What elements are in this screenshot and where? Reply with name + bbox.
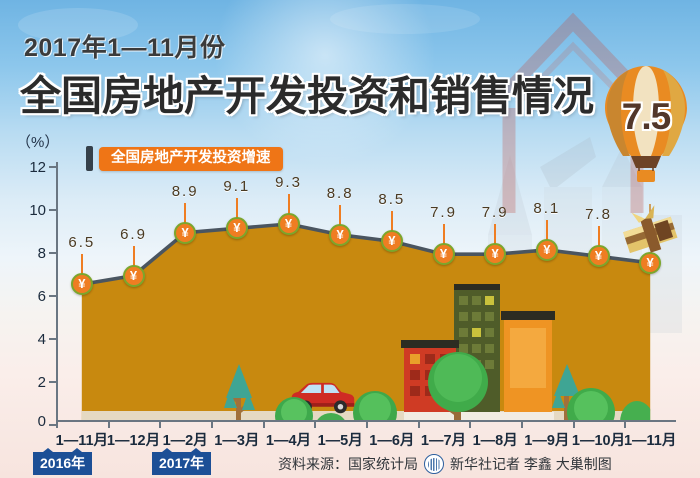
y-tick-label: 10 xyxy=(16,202,46,219)
x-tick-mark xyxy=(108,422,110,428)
x-tick-label: 1—11月 xyxy=(617,429,683,450)
cloud-shape xyxy=(330,4,480,34)
xinhua-logo-icon xyxy=(424,454,444,474)
data-point-label: 8.9 xyxy=(162,183,208,200)
y-tick-label: 0 xyxy=(16,413,46,430)
gift-parcel-icon xyxy=(617,204,683,260)
subtitle: 2017年1—11月份 xyxy=(24,28,225,64)
y-tick-mark xyxy=(49,209,56,211)
y-tick-mark xyxy=(49,295,56,297)
data-point-label: 7.9 xyxy=(472,204,518,221)
y-tick-mark xyxy=(49,252,56,254)
x-tick-mark xyxy=(56,422,58,428)
city-building-icon xyxy=(501,311,555,420)
y-axis-ticks: 12 10 8 6 4 2 0 xyxy=(12,0,46,478)
year-badge-2016: 2016年 xyxy=(33,452,92,475)
yuan-currency-icon[interactable]: ¥ xyxy=(329,224,351,246)
y-tick-label: 2 xyxy=(16,374,46,391)
y-tick-label: 6 xyxy=(16,288,46,305)
y-tick-label: 12 xyxy=(16,159,46,176)
data-point-label: 7.9 xyxy=(421,204,467,221)
yuan-currency-icon[interactable]: ¥ xyxy=(588,245,610,267)
footer: 资料来源：国家统计局 新华社记者 李鑫 大巢制图 xyxy=(278,454,612,474)
x-axis-labels: 1—11月1—12月1—2月1—3月1—4月1—5月1—6月1—7月1—8月1—… xyxy=(0,429,700,449)
x-tick-mark xyxy=(263,422,265,428)
data-point-label: 6.5 xyxy=(59,234,105,251)
data-point-label: 7.8 xyxy=(576,206,622,223)
legend-label: 全国房地产开发投资增速 xyxy=(99,147,283,171)
yuan-currency-icon[interactable]: ¥ xyxy=(174,222,196,244)
data-point-label: 8.5 xyxy=(369,191,415,208)
data-point-label: 9.3 xyxy=(266,174,312,191)
x-tick-mark xyxy=(314,422,316,428)
legend: 全国房地产开发投资增速 xyxy=(86,146,283,171)
y-tick-label: 8 xyxy=(16,245,46,262)
page-title: 全国房地产开发投资和销售情况 xyxy=(20,62,594,122)
credit-label: 新华社记者 李鑫 大巢制图 xyxy=(450,454,612,474)
data-point-label: 8.1 xyxy=(524,200,570,217)
y-tick-mark xyxy=(49,166,56,168)
x-tick-mark xyxy=(624,422,626,428)
y-tick-mark xyxy=(49,381,56,383)
x-tick-mark xyxy=(573,422,575,428)
highlight-value: 7.5 xyxy=(601,96,691,138)
yuan-currency-icon[interactable]: ¥ xyxy=(433,243,455,265)
yuan-currency-icon[interactable]: ¥ xyxy=(536,239,558,261)
y-tick-label: 4 xyxy=(16,331,46,348)
data-point-label: 6.9 xyxy=(111,226,157,243)
x-tick-mark xyxy=(418,422,420,428)
yuan-currency-icon[interactable]: ¥ xyxy=(226,217,248,239)
year-badge-2017: 2017年 xyxy=(152,452,211,475)
x-tick-mark xyxy=(366,422,368,428)
x-tick-mark xyxy=(469,422,471,428)
y-tick-mark xyxy=(49,424,56,426)
x-tick-mark xyxy=(521,422,523,428)
y-axis-line xyxy=(56,162,58,422)
yuan-currency-icon[interactable]: ¥ xyxy=(381,230,403,252)
yuan-currency-icon[interactable]: ¥ xyxy=(278,213,300,235)
area-chart-svg xyxy=(56,166,676,422)
yuan-currency-icon[interactable]: ¥ xyxy=(123,265,145,287)
data-point-label: 9.1 xyxy=(214,178,260,195)
chart-plot-area: 6.5¥6.9¥8.9¥9.1¥9.3¥8.8¥8.5¥7.9¥7.9¥8.1¥… xyxy=(56,166,676,422)
x-tick-mark xyxy=(159,422,161,428)
infographic-canvas: 2017年1—11月份 全国房地产开发投资和销售情况 （%） 12 10 8 6… xyxy=(0,0,700,478)
tree-icon xyxy=(654,402,676,422)
data-point-label: 8.8 xyxy=(317,185,363,202)
source-label: 资料来源：国家统计局 xyxy=(278,454,418,474)
y-tick-mark xyxy=(49,338,56,340)
x-tick-mark xyxy=(211,422,213,428)
legend-bar-icon xyxy=(86,146,93,171)
yuan-currency-icon[interactable]: ¥ xyxy=(71,273,93,295)
